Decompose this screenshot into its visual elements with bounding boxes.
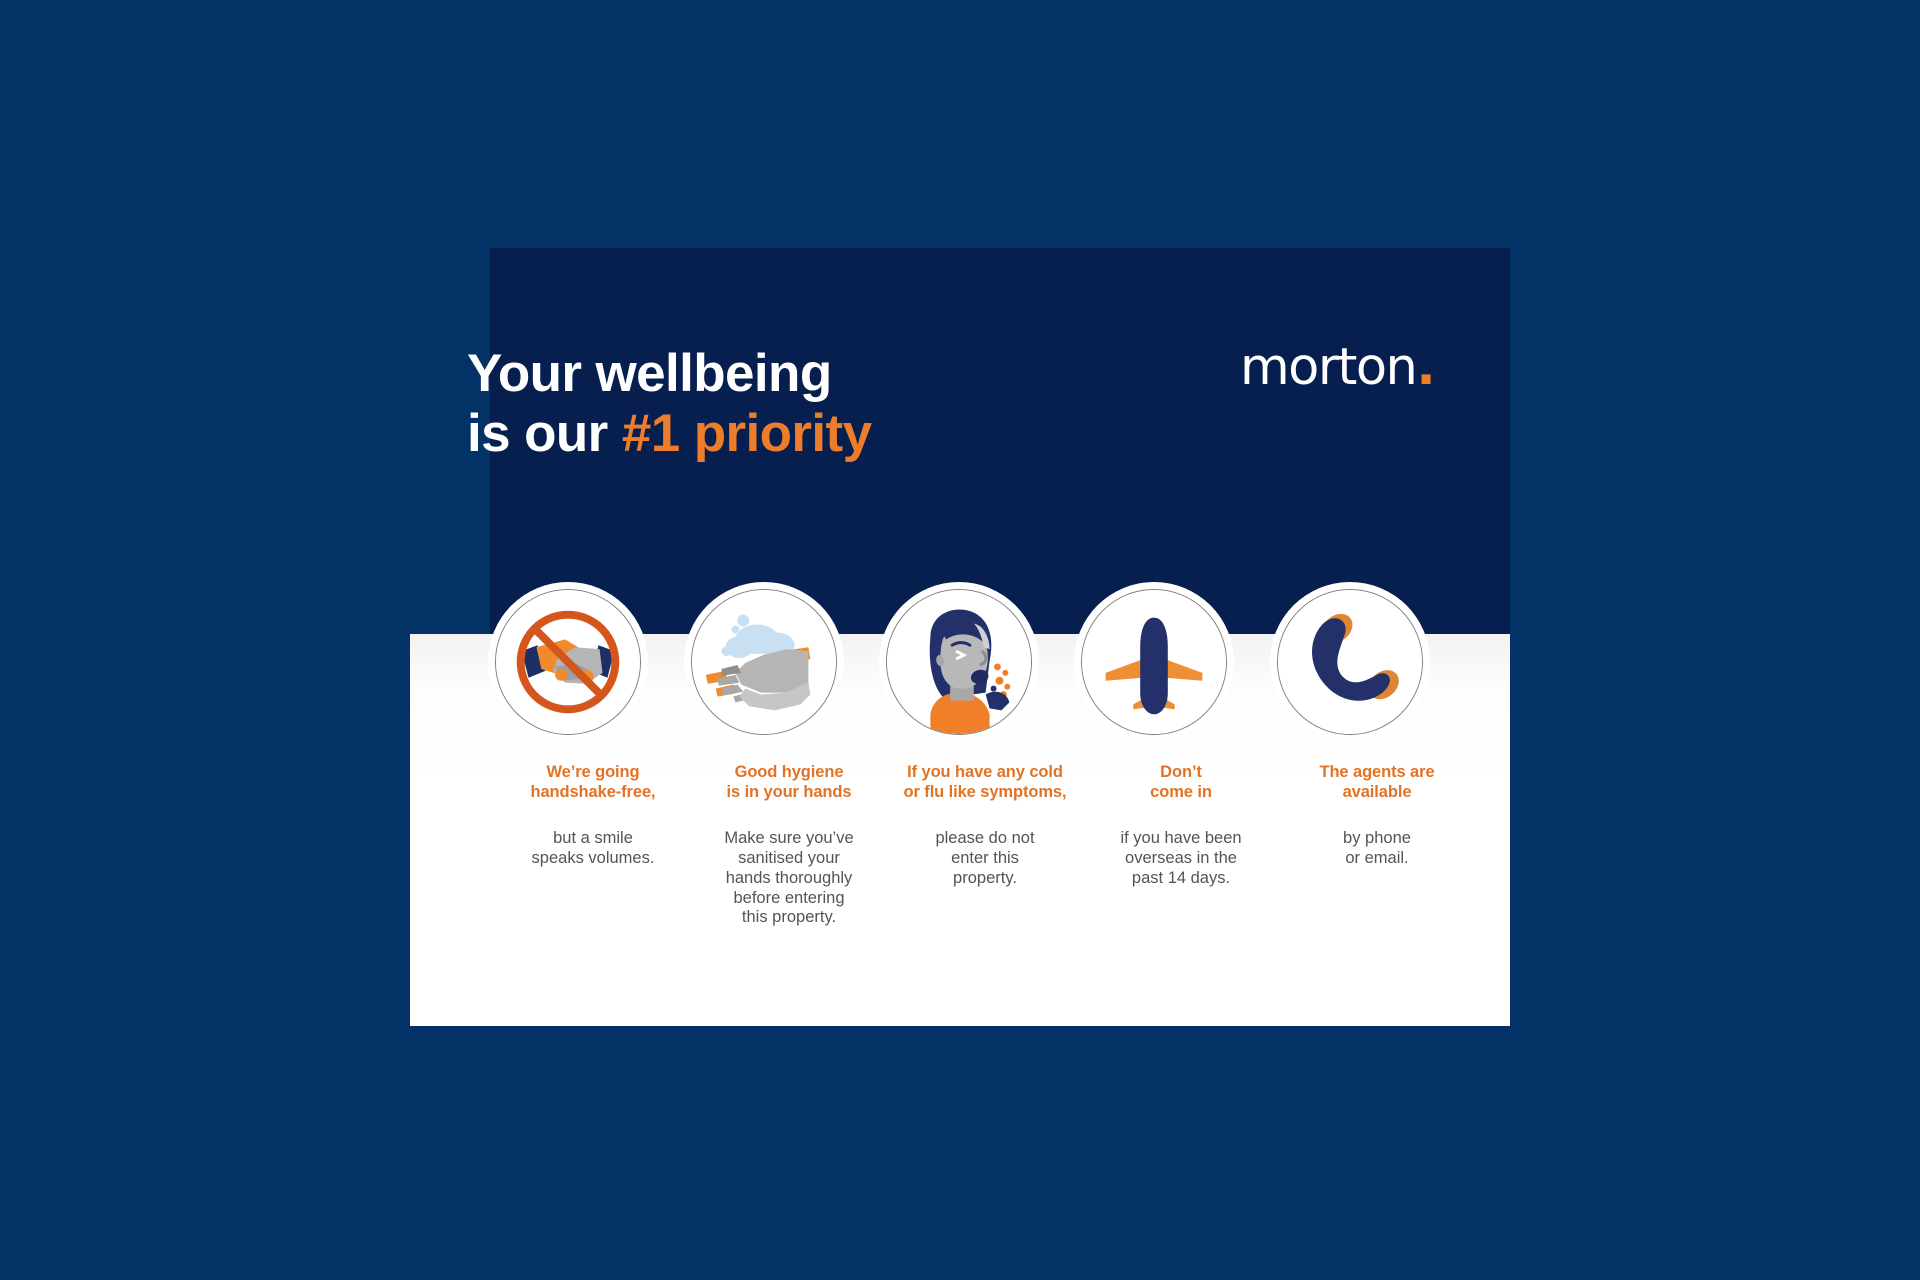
icon-circle-3	[886, 589, 1032, 735]
caption-column-2: Good hygiene is in your hands Make sure …	[691, 762, 887, 928]
caption-columns: We’re going handshake-free, but a smile …	[410, 762, 1510, 1012]
phone-handset-icon	[1277, 589, 1423, 735]
icon-circle-4	[1081, 589, 1227, 735]
hand-washing-icon	[691, 589, 837, 735]
caption-body-3: please do not enter this property.	[887, 829, 1083, 888]
caption-body-1: but a smile speaks volumes.	[495, 829, 691, 869]
caption-body-5: by phone or email.	[1279, 829, 1475, 869]
sneezing-person-icon	[886, 589, 1032, 735]
caption-body-2: Make sure you’ve sanitised your hands th…	[691, 829, 887, 928]
caption-column-4: Don’t come in if you have been overseas …	[1083, 762, 1279, 889]
caption-column-1: We’re going handshake-free, but a smile …	[495, 762, 691, 869]
caption-body-4: if you have been overseas in the past 14…	[1083, 829, 1279, 888]
icon-circle-5	[1277, 589, 1423, 735]
caption-title-3: If you have any cold or flu like symptom…	[887, 762, 1083, 802]
poster-canvas: Your wellbeing is our #1 priority morton…	[0, 0, 1920, 1280]
icon-circle-1	[495, 589, 641, 735]
no-handshake-icon	[495, 589, 641, 735]
icon-circle-2	[691, 589, 837, 735]
caption-column-3: If you have any cold or flu like symptom…	[887, 762, 1083, 889]
airplane-icon	[1081, 589, 1227, 735]
caption-title-5: The agents are available	[1279, 762, 1475, 802]
caption-column-5: The agents are available by phone or ema…	[1279, 762, 1475, 869]
caption-title-4: Don’t come in	[1083, 762, 1279, 802]
caption-title-2: Good hygiene is in your hands	[691, 762, 887, 802]
caption-title-1: We’re going handshake-free,	[495, 762, 691, 802]
icon-circle-row	[0, 0, 1920, 1280]
